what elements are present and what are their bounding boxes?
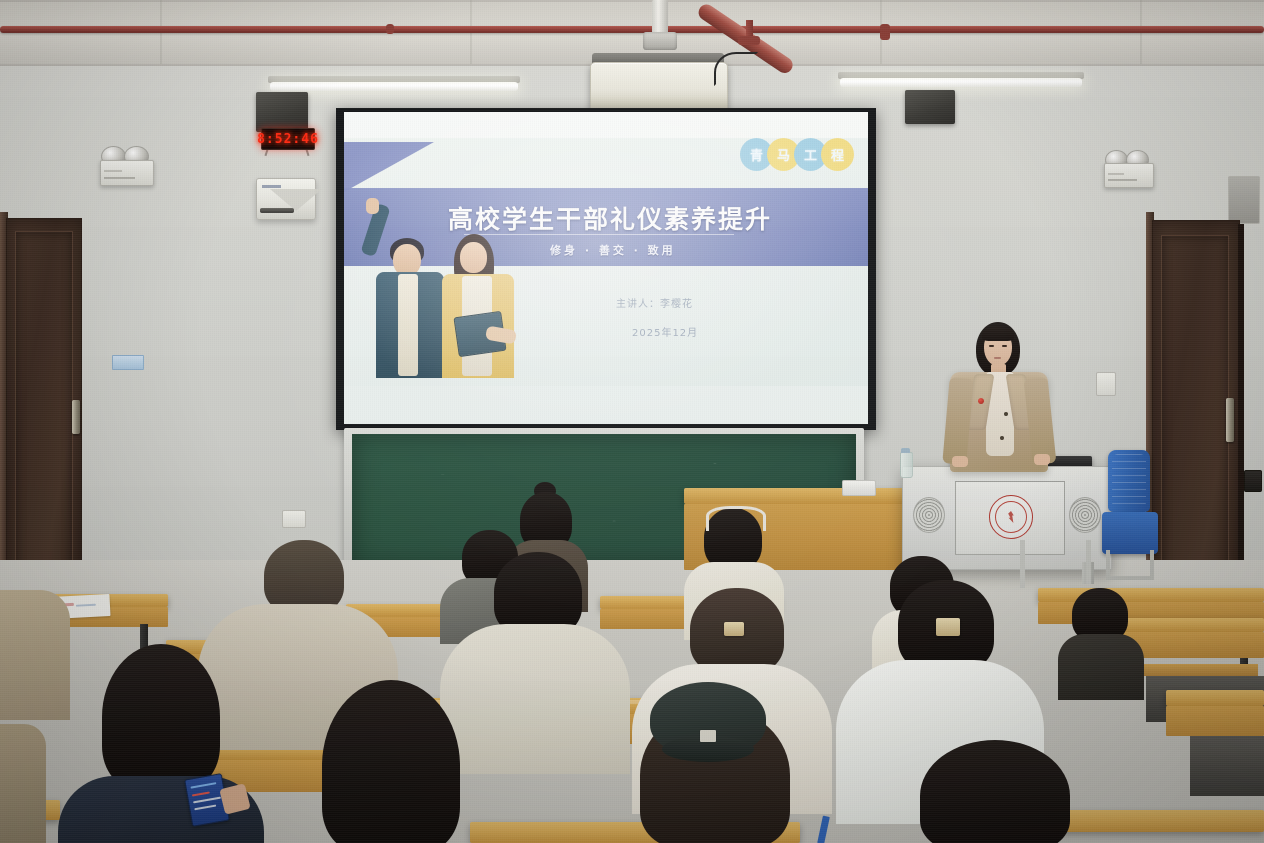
student-cap-buckle xyxy=(700,730,716,742)
presenter-eye xyxy=(1002,345,1007,347)
door-right-gap xyxy=(1238,224,1244,612)
wall-air-unit xyxy=(256,178,316,220)
wall-outlet xyxy=(282,510,306,528)
fluorescent-tube-right xyxy=(840,78,1082,87)
ac-brand-mark xyxy=(262,185,282,188)
sprinkler-collar xyxy=(738,36,760,45)
emergency-light-body xyxy=(1104,163,1154,188)
student-hair-clip xyxy=(724,622,744,636)
water-bottle-cap xyxy=(901,448,910,453)
emergency-light-left xyxy=(100,146,152,186)
door-right-panel xyxy=(1161,235,1229,603)
presentation-slide: 青 马 工 程 高校学生干部礼仪素养提升 修身 · 善交 · 致用 主讲人：李樱… xyxy=(344,112,868,424)
desk-row-c-right-front xyxy=(1166,706,1264,736)
slide-presenter-line: 主讲人：李樱花 xyxy=(616,295,693,310)
classroom-photo: 8:52:46 xyxy=(0,0,1264,843)
slide-photo-fist xyxy=(366,198,379,214)
presenter-coat-button xyxy=(1004,412,1008,416)
tissue-box xyxy=(842,480,876,496)
presenter-hand-right xyxy=(1034,454,1050,465)
student-front-left xyxy=(58,644,264,843)
projector-cable xyxy=(714,52,758,86)
door-left-panel xyxy=(15,231,73,593)
student-jacket xyxy=(1058,634,1144,700)
chair-back-ribs xyxy=(1112,454,1146,508)
emergency-light-right xyxy=(1104,150,1152,188)
presenter-badge xyxy=(978,398,984,404)
chair-backrest xyxy=(1108,450,1150,512)
slide-subtitle: 修身 · 善交 · 致用 xyxy=(550,242,676,258)
desk-understructure xyxy=(1190,736,1264,796)
lectern xyxy=(902,466,1112,570)
slide-photo-woman xyxy=(436,208,522,378)
student-jacket xyxy=(0,590,70,720)
slide-band-wedge xyxy=(344,142,434,192)
student-left-edge-front xyxy=(0,724,46,843)
sprinkler-hanger xyxy=(386,24,394,34)
sprinkler-pipe-main xyxy=(0,26,1264,33)
slide-photo-shirt xyxy=(398,274,418,376)
phone-screen-line xyxy=(190,782,216,788)
wall-speaker-right xyxy=(905,90,955,124)
presenter-coat-button xyxy=(1000,436,1004,440)
chair-leg-rail xyxy=(1106,576,1154,580)
ceiling-seam-top xyxy=(0,0,1264,2)
door-left[interactable] xyxy=(6,218,82,610)
emergency-light-label xyxy=(104,170,122,172)
water-bottle xyxy=(900,452,913,478)
chair-leg xyxy=(1150,550,1154,578)
ac-vent xyxy=(260,208,294,213)
slide-photo-face xyxy=(460,242,487,273)
lectern-speaker-left xyxy=(913,497,945,533)
phone-screen-line xyxy=(193,797,221,804)
student-left-edge xyxy=(0,590,70,720)
student-hair xyxy=(264,540,344,614)
presenter-mouth xyxy=(994,357,1001,359)
student-hair xyxy=(322,680,460,843)
projector-mount-knuckle xyxy=(643,32,677,50)
door-stopper xyxy=(1244,470,1262,492)
fluorescent-tube-left xyxy=(270,82,518,91)
paper-marking xyxy=(76,604,96,607)
emergency-light-label xyxy=(104,177,135,179)
student-front-midleft xyxy=(276,680,506,843)
projection-screen: 青 马 工 程 高校学生干部礼仪素养提升 修身 · 善交 · 致用 主讲人：李樱… xyxy=(344,112,868,424)
chair-seat xyxy=(1102,512,1158,554)
sprinkler-hanger xyxy=(880,24,890,40)
led-clock: 8:52:46 xyxy=(261,128,315,150)
slide-bottom-margin xyxy=(344,386,868,424)
door-right-handle[interactable] xyxy=(1226,398,1234,442)
school-emblem xyxy=(989,495,1033,539)
phone-screen-line xyxy=(192,791,210,796)
student-front-right xyxy=(880,740,1120,843)
badge-circle-4: 程 xyxy=(821,138,854,171)
student-hair-clip xyxy=(936,618,960,636)
student-front-center-cap xyxy=(588,682,840,843)
student-jacket xyxy=(0,724,46,843)
student-headband xyxy=(706,506,766,531)
desk-row-c-right xyxy=(1166,690,1264,706)
wall-notice-card xyxy=(112,355,144,370)
door-left-handle[interactable] xyxy=(72,400,80,434)
student-right-edge xyxy=(1058,588,1144,698)
presenter xyxy=(938,322,1068,472)
slide-top-margin xyxy=(344,112,868,138)
wall-switch-plate xyxy=(1096,372,1116,396)
slide-date-line: 2025年12月 xyxy=(632,324,698,339)
emergency-light-label xyxy=(1108,179,1137,181)
emergency-light-body xyxy=(100,160,154,186)
presenter-hand-left xyxy=(952,456,968,467)
classroom-chair[interactable] xyxy=(1100,450,1162,580)
presenter-eye xyxy=(989,345,994,347)
student-hair xyxy=(102,644,220,790)
slide-badge-group: 青 马 工 程 xyxy=(740,138,854,171)
student-hair xyxy=(920,740,1070,843)
emergency-light-label xyxy=(1108,173,1124,175)
presenter-fringe xyxy=(982,327,1014,341)
wall-speaker-left xyxy=(256,92,308,132)
projector-mount-pole xyxy=(652,0,668,36)
lectern-speaker-right xyxy=(1069,497,1101,533)
wall-panel xyxy=(1228,176,1260,224)
clock-time-text: 8:52:46 xyxy=(257,133,319,146)
phone-screen-line xyxy=(194,805,216,811)
aux-chair-frame xyxy=(1086,540,1091,584)
